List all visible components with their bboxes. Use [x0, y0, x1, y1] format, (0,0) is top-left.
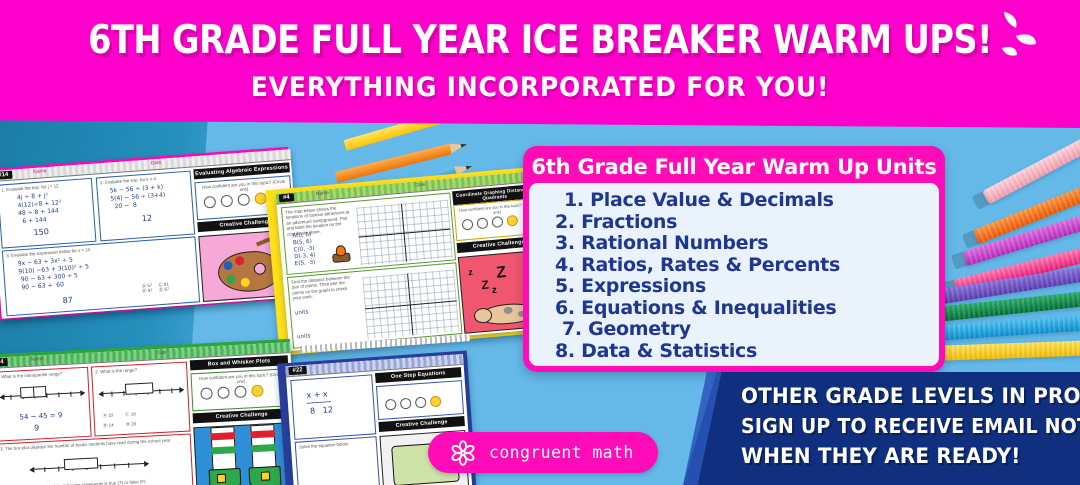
handwritten-answer: 12	[142, 215, 153, 224]
boxplot-box	[125, 382, 154, 394]
worksheet-number-badge: #22	[288, 366, 307, 375]
worksheet-box-and-whisker: #34 Name Date 1. What is the interquarti…	[0, 342, 298, 485]
boxplot-problem-1: 1. What is the interquartile range? 54 −…	[0, 367, 92, 442]
problem-prompt: The map below shows the locations of var…	[285, 204, 351, 237]
handwritten-answer: units	[295, 308, 309, 317]
face-not-okay	[477, 217, 489, 229]
handwritten-work: 9x − 63 + 3x² ÷ 5 9(10) −63 + 3(10)² ÷ 5…	[18, 255, 91, 292]
coordinate-points-list: A(0, 6) B(5, 6) C(0, -3) D(-3, 4) E(5, -…	[292, 232, 316, 269]
worksheet-name-field: Name	[33, 169, 47, 175]
handwritten-work: 5k − 56 ÷ (3 + k) 5(4) − 56 ÷ (3+4) 20 −…	[109, 184, 166, 212]
confidence-scale-box: How confident are you in this topic? (Ci…	[190, 368, 290, 411]
boxplot-problem-2: 2. What is the range? Ⓐ 10 Ⓒ 18 Ⓑ 14 Ⓓ 2…	[91, 362, 191, 437]
face-mostly-confident	[415, 397, 427, 409]
tick	[128, 462, 129, 467]
problem-prompt: Find the distance between the pair of po…	[291, 274, 355, 301]
unit-list-item: 5. Expressions	[555, 276, 939, 298]
answer-choices: Ⓐ 57 Ⓒ 81 Ⓑ 87 Ⓓ 97	[142, 281, 170, 294]
coordinate-grid	[362, 269, 459, 339]
tick	[171, 388, 172, 393]
face-mostly-confident	[237, 193, 250, 206]
handwritten-work: x + x ───── 8 12	[306, 390, 333, 416]
coordinate-grid	[356, 200, 453, 266]
sparkle-burst-icon	[988, 8, 1058, 68]
poster-header: 6TH GRADE FULL YEAR ICE BREAKER WARM UPS…	[0, 0, 1080, 128]
answer-choices: Ⓑ 14 Ⓓ 20	[103, 421, 136, 428]
worksheet-date-field: Date	[415, 183, 426, 189]
face-mostly-confident	[234, 385, 247, 398]
face-not-okay	[400, 398, 412, 410]
tick	[10, 394, 11, 399]
worksheet-number-badge: #14	[0, 171, 13, 180]
confidence-scale-box	[376, 380, 464, 420]
handwritten-answer: 150	[33, 228, 49, 237]
tick	[70, 391, 71, 396]
tick	[58, 392, 59, 397]
problem-prompt: Determine whether each of the following …	[2, 479, 147, 485]
confidence-faces	[385, 396, 442, 411]
worksheet-photos-group: #14 Name Date 1. Evaluate the exp. for j…	[0, 112, 560, 485]
worksheet-name-field: Name	[316, 191, 330, 198]
handwritten-answer: 9	[34, 424, 40, 432]
boxplot-box	[64, 457, 99, 470]
poster-canvas: #14 Name Date 1. Evaluate the exp. for j…	[0, 0, 1080, 485]
worksheet-date-field: Date	[156, 351, 167, 357]
handwritten-answer: 87	[62, 297, 73, 306]
notice-line: SIGN UP TO RECEIVE EMAIL NOTIFICATION	[741, 411, 1059, 441]
unit-list-item: 2. Fractions	[555, 212, 939, 234]
worksheet-number-badge: #4	[279, 193, 294, 202]
confidence-faces	[200, 385, 264, 400]
tick	[44, 467, 45, 472]
face-mostly-confident	[491, 216, 503, 228]
worksheet-problem-1: 1. Evaluate the exp. for j = 12 4j ÷ 8 +…	[0, 178, 96, 249]
problem-prompt: 1. What is the interquartile range?	[0, 371, 62, 380]
face-very-confident	[251, 385, 264, 398]
face-not-okay	[217, 386, 230, 399]
handwritten-work: 54 − 45 = 9	[19, 411, 62, 421]
notice-line: OTHER GRADE LEVELS IN PROGRESS!	[741, 381, 1059, 411]
face-need-help	[200, 387, 213, 400]
problem-prompt: 2. What is the range?	[95, 367, 137, 375]
brand-name: congruent math	[489, 443, 634, 462]
tick	[100, 464, 101, 469]
coordinate-problem-1: The map below shows the locations of var…	[281, 192, 456, 275]
brand-logo[interactable]: congruent math	[428, 432, 658, 473]
face-need-help	[462, 219, 474, 231]
tick	[114, 463, 115, 468]
worksheet-problem-2: 2. Evaluate the exp. for k = 4 5k − 56 ÷…	[96, 171, 195, 242]
page-title: 6TH GRADE FULL YEAR ICE BREAKER WARM UPS…	[76, 18, 1005, 63]
tick	[111, 391, 112, 396]
unit-list-item: 7. Geometry	[555, 319, 939, 341]
handwritten-answer: units	[297, 332, 311, 341]
equations-problem-1: x + x ───── 8 12	[290, 374, 376, 440]
face-very-confident	[430, 396, 442, 408]
notice-line: WHEN THEY ARE READY!	[741, 441, 1059, 471]
answer-choices: Ⓐ 10 Ⓒ 18	[102, 411, 135, 418]
notice-banner-text: OTHER GRADE LEVELS IN PROGRESS! SIGN UP …	[741, 381, 1076, 471]
units-list: 1. Place Value & Decimals 2. Fractions 3…	[529, 183, 939, 366]
unit-list-item: 1. Place Value & Decimals	[555, 190, 939, 212]
worksheet-name-field: Name	[30, 357, 44, 363]
face-not-okay	[220, 195, 233, 208]
handwritten-work: 4j ÷ 8 + j² 4(12)÷8 + 12² 48 ÷ 8 + 144 6…	[17, 191, 63, 226]
worksheet-date-field: Date	[151, 161, 162, 167]
flower-asterisk-icon	[450, 440, 476, 466]
notice-banner: OTHER GRADE LEVELS IN PROGRESS! SIGN UP …	[683, 372, 1080, 485]
unit-list-item: 4. Ratios, Rates & Percents	[555, 255, 939, 277]
problem-prompt: Solve the equation below.	[299, 441, 349, 450]
units-panel-title: 6th Grade Full Year Warm Up Units	[529, 152, 939, 183]
face-very-confident	[506, 215, 518, 227]
units-panel: 6th Grade Full Year Warm Up Units 1. Pla…	[523, 146, 945, 372]
worksheet-coordinate-graphing: #4 Name Date The map below shows the loc…	[276, 171, 551, 351]
creative-challenge-art-boots	[193, 422, 294, 485]
equations-problem-2: Solve the equation below.	[295, 436, 381, 485]
unit-list-item: 3. Rational Numbers	[555, 233, 939, 255]
tick	[159, 388, 160, 393]
face-need-help	[203, 196, 216, 209]
worksheet-evaluating-algebraic-expressions: #14 Name Date 1. Evaluate the exp. for j…	[0, 149, 301, 319]
worksheet-problem-3: 3. Evaluate the expression below for x =…	[2, 236, 200, 316]
unit-list-item: 6. Equations & Inequalities	[555, 298, 939, 320]
face-need-help	[385, 399, 397, 411]
tick	[58, 466, 59, 471]
page-subtitle: EVERYTHING INCORPORATED FOR YOU!	[38, 72, 1042, 103]
worksheet-number-badge: #34	[0, 358, 8, 367]
unit-list-item: 8. Data & Statistics	[555, 341, 939, 363]
boxplot-problem-3: 3. The box plot displays the number of b…	[0, 433, 194, 485]
confidence-prompt: How confident are you in this topic? (Ci…	[196, 371, 286, 387]
